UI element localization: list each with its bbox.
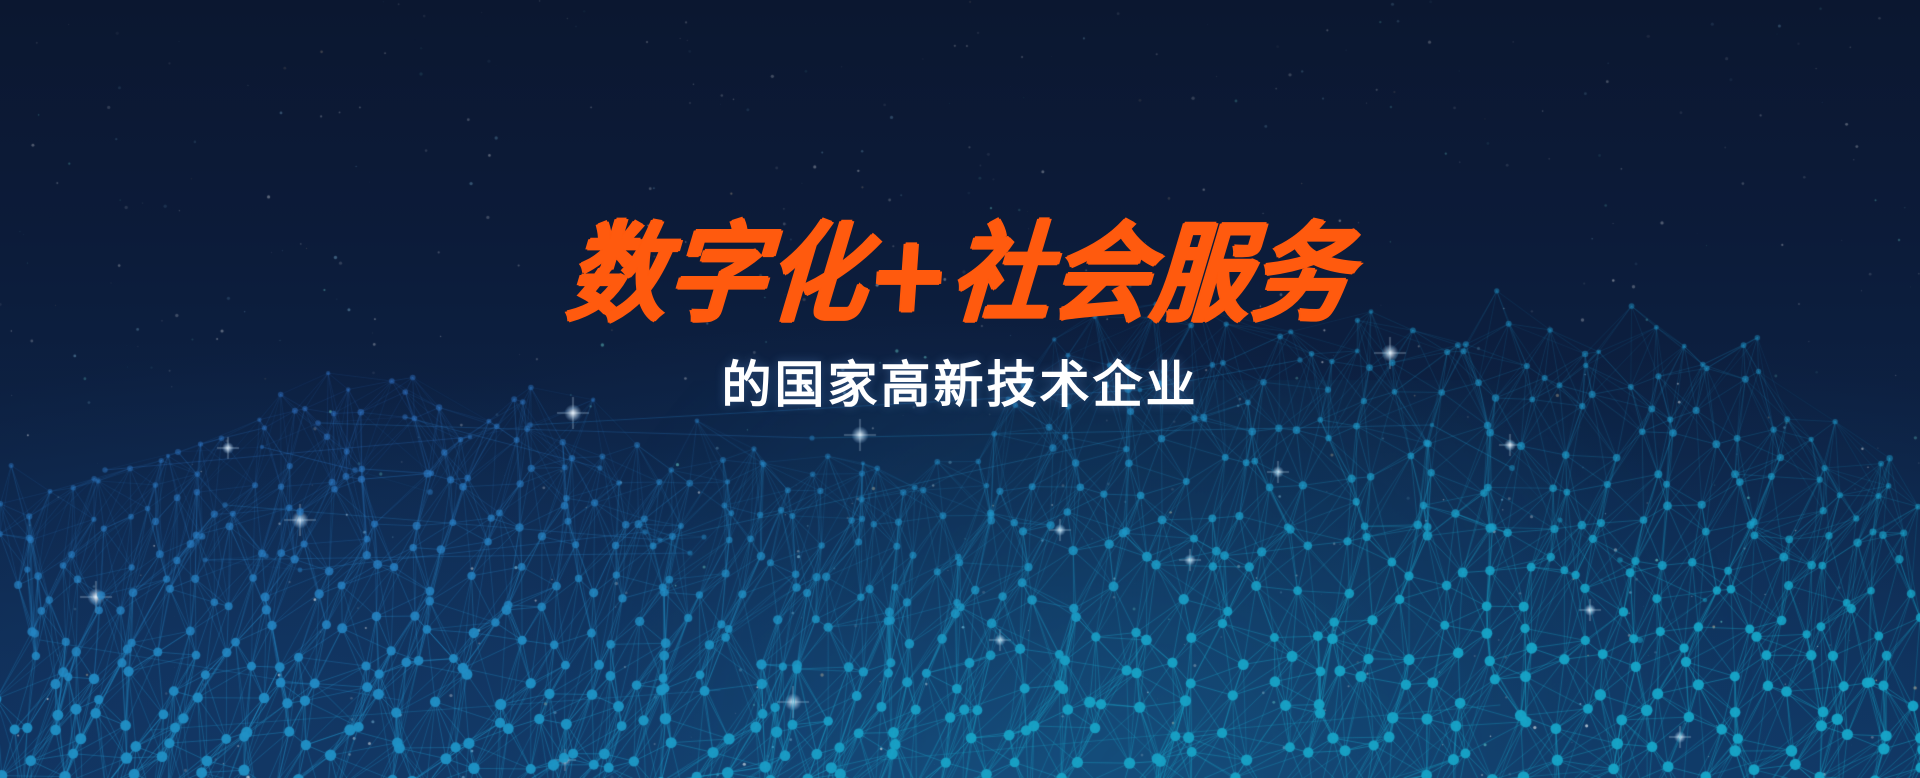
page-title: 数字化+社会服务 [564, 219, 1356, 332]
page-subtitle: 的国家高新技术企业 [722, 345, 1199, 417]
banner-content: 数字化+社会服务 的国家高新技术企业 [0, 0, 1920, 778]
hero-banner: 数字化+社会服务 的国家高新技术企业 [0, 0, 1920, 778]
